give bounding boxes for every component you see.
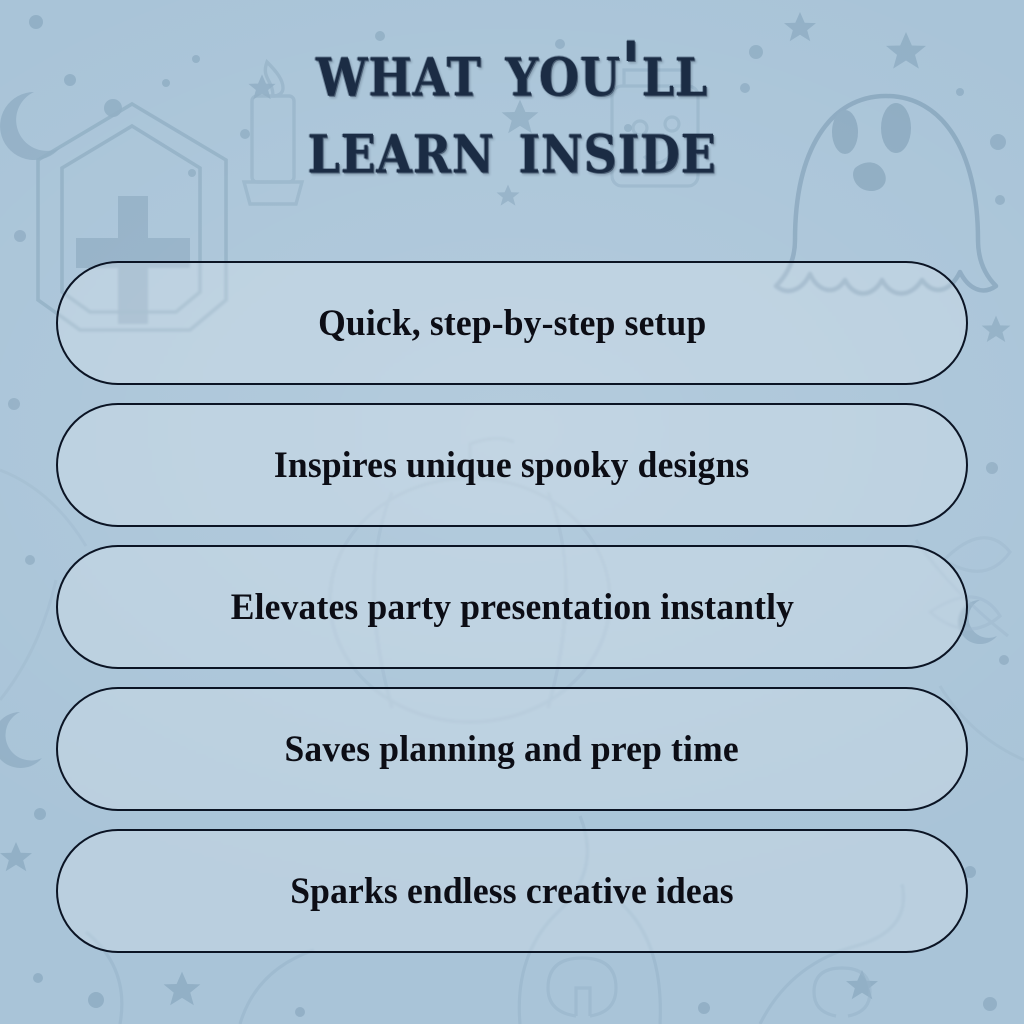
title-line-1: What You'll: [0, 34, 1024, 105]
benefit-label: Sparks endless creative ideas: [290, 870, 734, 913]
benefits-list: Quick, step-by-step setup Inspires uniqu…: [56, 261, 968, 953]
benefit-pill-1[interactable]: Quick, step-by-step setup: [56, 261, 968, 385]
mushroom-doodle: [548, 958, 870, 1016]
benefit-pill-4[interactable]: Saves planning and prep time: [56, 687, 968, 811]
benefit-pill-2[interactable]: Inspires unique spooky designs: [56, 403, 968, 527]
benefit-pill-3[interactable]: Elevates party presentation instantly: [56, 545, 968, 669]
poster-canvas: What You'll Learn Inside Quick, step-by-…: [0, 0, 1024, 1024]
benefit-label: Quick, step-by-step setup: [318, 302, 706, 345]
benefit-pill-5[interactable]: Sparks endless creative ideas: [56, 829, 968, 953]
benefit-label: Elevates party presentation instantly: [230, 586, 793, 629]
benefit-label: Saves planning and prep time: [285, 728, 739, 771]
page-title: What You'll Learn Inside: [0, 34, 1024, 173]
benefit-label: Inspires unique spooky designs: [274, 444, 750, 487]
title-line-2: Learn Inside: [0, 111, 1024, 182]
